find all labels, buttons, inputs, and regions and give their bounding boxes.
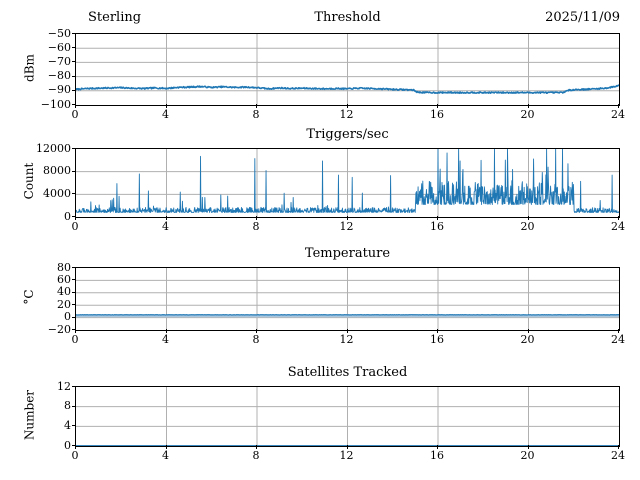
plot-area-satellites bbox=[75, 386, 620, 447]
x-tick-label: 0 bbox=[55, 221, 95, 232]
x-tick-mark bbox=[166, 104, 167, 108]
y-tick-mark bbox=[72, 425, 76, 426]
x-tick-mark bbox=[166, 329, 167, 333]
x-tick-label: 12 bbox=[327, 109, 367, 120]
y-tick-label: 20 bbox=[25, 299, 71, 310]
y-tick-mark bbox=[72, 406, 76, 407]
y-tick-label: −50 bbox=[25, 28, 71, 39]
x-tick-labels-satellites: 04812162024 bbox=[75, 450, 620, 464]
x-tick-label: 20 bbox=[508, 109, 548, 120]
panel-title-triggers: Triggers/sec bbox=[75, 127, 620, 142]
observation-date: 2025/11/09 bbox=[545, 9, 620, 27]
x-tick-labels-temperature: 04812162024 bbox=[75, 334, 620, 348]
x-tick-mark bbox=[347, 329, 348, 333]
y-tick-mark bbox=[72, 317, 76, 318]
y-tick-labels-threshold: −50−60−70−80−90−100 bbox=[22, 33, 71, 104]
y-tick-mark bbox=[72, 47, 76, 48]
y-tick-label: −100 bbox=[25, 99, 71, 110]
x-tick-mark bbox=[347, 216, 348, 220]
panel-title-temperature: Temperature bbox=[75, 246, 620, 261]
y-tick-label: 0 bbox=[25, 211, 71, 222]
y-tick-labels-satellites: 12840 bbox=[22, 386, 71, 445]
y-tick-mark bbox=[72, 76, 76, 77]
y-tick-label: −90 bbox=[25, 84, 71, 95]
x-tick-label: 16 bbox=[417, 334, 457, 345]
x-tick-label: 16 bbox=[417, 109, 457, 120]
y-tick-marks-temperature bbox=[71, 267, 75, 329]
x-tick-mark bbox=[437, 329, 438, 333]
x-tick-mark bbox=[75, 104, 76, 108]
monitoring-dashboard: Sterling Threshold 2025/11/09 dBm −50−60… bbox=[0, 0, 640, 480]
x-tick-mark bbox=[618, 104, 619, 108]
x-tick-label: 4 bbox=[146, 450, 186, 461]
plot-area-triggers bbox=[75, 148, 620, 218]
x-tick-labels-threshold: 04812162024 bbox=[75, 109, 620, 123]
x-tick-label: 8 bbox=[236, 221, 276, 232]
x-tick-mark bbox=[528, 216, 529, 220]
x-tick-label: 12 bbox=[327, 334, 367, 345]
x-tick-label: 4 bbox=[146, 334, 186, 345]
y-tick-marks-triggers bbox=[71, 148, 75, 216]
y-tick-label: 8 bbox=[25, 400, 71, 411]
y-tick-label: −80 bbox=[25, 70, 71, 81]
y-tick-label: −70 bbox=[25, 56, 71, 67]
y-tick-mark bbox=[72, 61, 76, 62]
y-tick-mark bbox=[72, 90, 76, 91]
x-tick-mark bbox=[75, 216, 76, 220]
panel-title-satellites: Satellites Tracked bbox=[75, 365, 620, 380]
y-tick-label: 80 bbox=[25, 262, 71, 273]
x-tick-label: 16 bbox=[417, 221, 457, 232]
plot-area-temperature bbox=[75, 267, 620, 331]
x-tick-mark bbox=[256, 445, 257, 449]
plot-area-threshold bbox=[75, 33, 620, 106]
x-tick-label: 4 bbox=[146, 221, 186, 232]
y-tick-mark bbox=[72, 292, 76, 293]
x-tick-mark bbox=[618, 216, 619, 220]
y-tick-label: 0 bbox=[25, 311, 71, 322]
y-tick-mark bbox=[72, 171, 76, 172]
y-tick-labels-triggers: 12000800040000 bbox=[22, 148, 71, 216]
y-tick-marks-threshold bbox=[71, 33, 75, 104]
x-tick-mark bbox=[437, 104, 438, 108]
x-tick-mark bbox=[166, 445, 167, 449]
x-tick-label: 0 bbox=[55, 334, 95, 345]
x-tick-mark bbox=[528, 445, 529, 449]
x-tick-mark bbox=[256, 104, 257, 108]
x-tick-mark bbox=[618, 329, 619, 333]
y-tick-label: 40 bbox=[25, 286, 71, 297]
x-tick-label: 0 bbox=[55, 109, 95, 120]
y-tick-label: −60 bbox=[25, 42, 71, 53]
x-tick-label: 12 bbox=[327, 450, 367, 461]
y-tick-mark bbox=[72, 267, 76, 268]
x-tick-label: 20 bbox=[508, 221, 548, 232]
x-tick-mark bbox=[75, 329, 76, 333]
x-tick-label: 24 bbox=[598, 334, 638, 345]
y-tick-label: 12000 bbox=[25, 143, 71, 154]
x-tick-mark bbox=[256, 329, 257, 333]
x-tick-label: 16 bbox=[417, 450, 457, 461]
y-tick-label: 4000 bbox=[25, 188, 71, 199]
x-tick-mark bbox=[528, 329, 529, 333]
y-tick-mark bbox=[72, 193, 76, 194]
x-tick-label: 12 bbox=[327, 221, 367, 232]
y-tick-mark bbox=[72, 279, 76, 280]
x-tick-mark bbox=[75, 445, 76, 449]
y-tick-mark bbox=[72, 386, 76, 387]
x-tick-labels-triggers: 04812162024 bbox=[75, 221, 620, 235]
x-tick-label: 24 bbox=[598, 450, 638, 461]
x-tick-mark bbox=[618, 445, 619, 449]
x-tick-mark bbox=[347, 445, 348, 449]
y-tick-label: 4 bbox=[25, 420, 71, 431]
x-tick-label: 8 bbox=[236, 334, 276, 345]
x-tick-label: 24 bbox=[598, 109, 638, 120]
x-tick-label: 0 bbox=[55, 450, 95, 461]
x-tick-label: 8 bbox=[236, 109, 276, 120]
x-tick-mark bbox=[437, 445, 438, 449]
x-tick-mark bbox=[256, 216, 257, 220]
y-tick-label: 0 bbox=[25, 440, 71, 451]
y-tick-mark bbox=[72, 33, 76, 34]
y-tick-label: 60 bbox=[25, 274, 71, 285]
x-tick-label: 8 bbox=[236, 450, 276, 461]
x-tick-label: 20 bbox=[508, 450, 548, 461]
x-tick-mark bbox=[528, 104, 529, 108]
y-tick-mark bbox=[72, 148, 76, 149]
header-row: Sterling Threshold 2025/11/09 bbox=[75, 9, 620, 29]
x-tick-mark bbox=[347, 104, 348, 108]
y-tick-marks-satellites bbox=[71, 386, 75, 445]
x-tick-mark bbox=[166, 216, 167, 220]
x-tick-label: 20 bbox=[508, 334, 548, 345]
y-tick-label: 8000 bbox=[25, 165, 71, 176]
y-tick-labels-temperature: 806040200−20 bbox=[22, 267, 71, 329]
x-tick-label: 24 bbox=[598, 221, 638, 232]
x-tick-label: 4 bbox=[146, 109, 186, 120]
x-tick-mark bbox=[437, 216, 438, 220]
y-tick-label: −20 bbox=[25, 324, 71, 335]
y-tick-label: 12 bbox=[25, 381, 71, 392]
y-tick-mark bbox=[72, 304, 76, 305]
dashboard-title: Threshold bbox=[75, 9, 620, 27]
